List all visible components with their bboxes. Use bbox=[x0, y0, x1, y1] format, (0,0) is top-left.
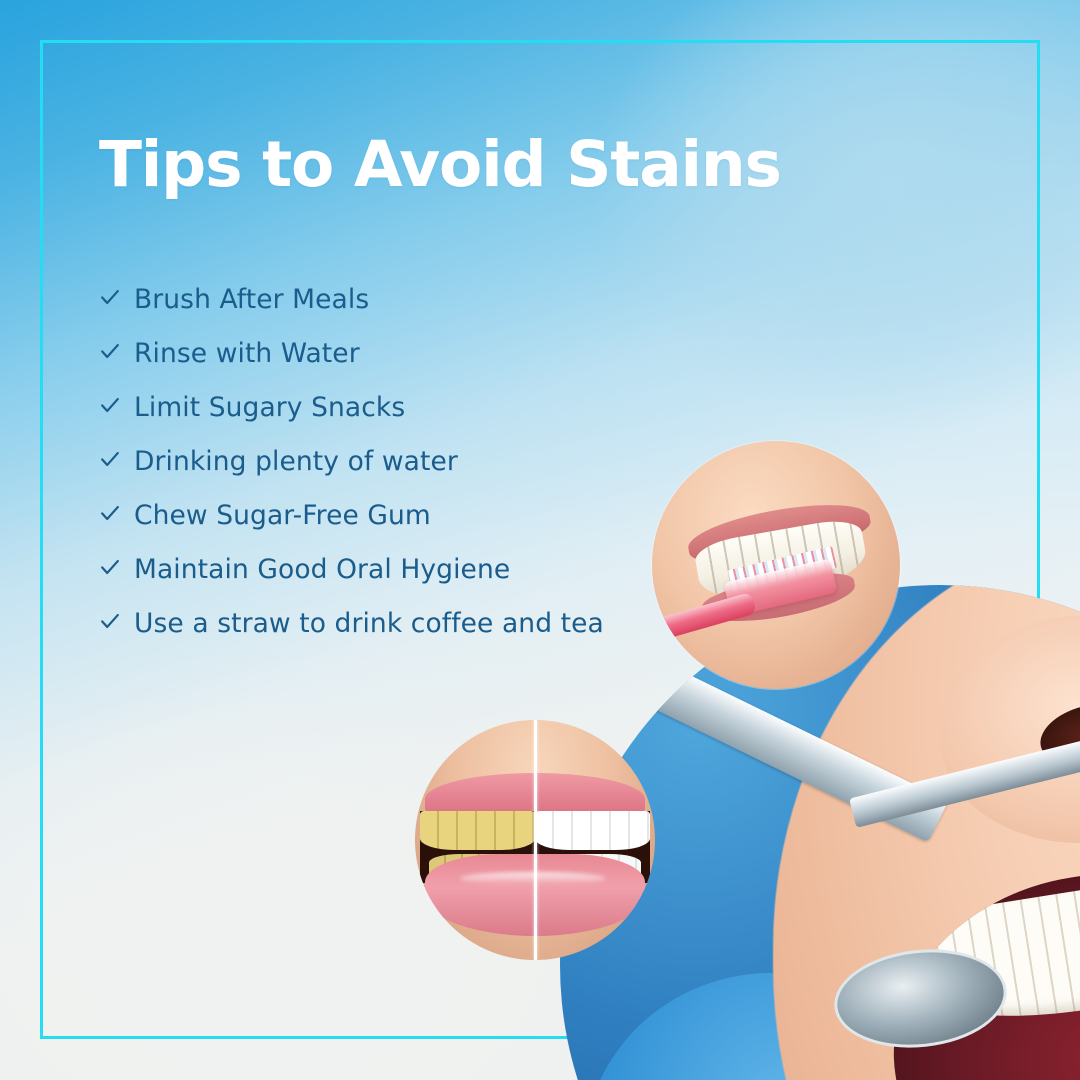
list-item-label: Limit Sugary Snacks bbox=[134, 392, 405, 423]
list-item-label: Use a straw to drink coffee and tea bbox=[134, 608, 604, 639]
list-item-label: Chew Sugar-Free Gum bbox=[134, 500, 431, 531]
check-icon bbox=[99, 610, 134, 636]
check-icon bbox=[99, 556, 134, 582]
list-item: Rinse with Water bbox=[99, 326, 739, 380]
background-bottom-left-wash bbox=[0, 691, 648, 1080]
check-icon bbox=[99, 502, 134, 528]
page-title: Tips to Avoid Stains bbox=[99, 132, 781, 198]
list-item: Brush After Meals bbox=[99, 272, 739, 326]
check-icon bbox=[99, 448, 134, 474]
list-item-label: Maintain Good Oral Hygiene bbox=[134, 554, 510, 585]
list-item: Use a straw to drink coffee and tea bbox=[99, 596, 739, 650]
list-item: Limit Sugary Snacks bbox=[99, 380, 739, 434]
tips-checklist: Brush After Meals Rinse with Water Limit… bbox=[99, 272, 739, 650]
list-item: Chew Sugar-Free Gum bbox=[99, 488, 739, 542]
check-icon bbox=[99, 286, 134, 312]
poster-canvas: Tips to Avoid Stains Brush After Meals R… bbox=[0, 0, 1080, 1080]
check-icon bbox=[99, 340, 134, 366]
check-icon bbox=[99, 394, 134, 420]
list-item-label: Drinking plenty of water bbox=[134, 446, 458, 477]
list-item-label: Rinse with Water bbox=[134, 338, 360, 369]
list-item: Maintain Good Oral Hygiene bbox=[99, 542, 739, 596]
list-item-label: Brush After Meals bbox=[134, 284, 369, 315]
list-item: Drinking plenty of water bbox=[99, 434, 739, 488]
